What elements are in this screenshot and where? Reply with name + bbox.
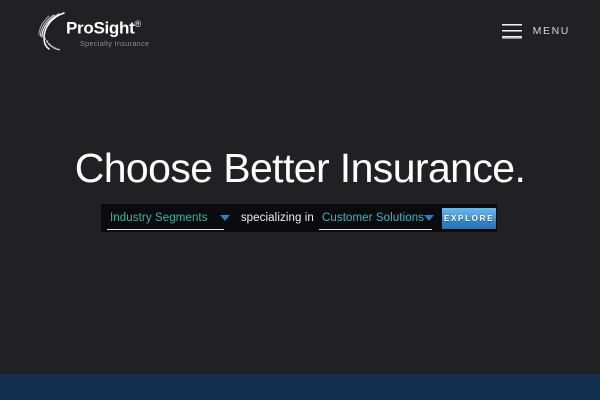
page-title: Choose Better Insurance.: [0, 145, 600, 191]
chevron-down-icon[interactable]: [220, 215, 230, 221]
explore-button[interactable]: EXPLORE: [442, 208, 496, 229]
menu-label: MENU: [533, 25, 570, 37]
trademark-symbol: ®: [134, 19, 140, 29]
chevron-down-icon[interactable]: [424, 215, 434, 221]
brand-logo-text: ProSight® Specialty Insurance: [66, 10, 149, 49]
customer-solutions-value: Customer Solutions: [322, 212, 424, 224]
site-header: ProSight® Specialty Insurance MENU: [0, 0, 600, 62]
industry-segments-underline: [107, 229, 224, 230]
hero-section: Choose Better Insurance.: [0, 145, 600, 191]
hamburger-line-2: [502, 30, 522, 33]
hamburger-menu-icon[interactable]: [502, 24, 522, 39]
hamburger-line-1: [502, 24, 522, 27]
industry-segments-select[interactable]: Industry Segments: [101, 204, 238, 232]
insurance-search-bar: Industry Segments specializing in Custom…: [101, 204, 497, 232]
hamburger-line-3: [502, 36, 522, 39]
customer-solutions-select-row: Customer Solutions: [322, 208, 442, 228]
brand-name: ProSight®: [66, 15, 149, 38]
menu-toggle[interactable]: MENU: [502, 24, 570, 39]
industry-segments-select-row: Industry Segments: [110, 208, 238, 228]
brand-logo[interactable]: ProSight® Specialty Insurance: [38, 10, 149, 52]
brand-tagline: Specialty Insurance: [80, 39, 149, 49]
prosight-arcs-logo-icon: [38, 11, 68, 51]
page-root: ProSight® Specialty Insurance MENU Choos…: [0, 0, 600, 400]
customer-solutions-select[interactable]: Customer Solutions: [317, 204, 442, 232]
footer-band: [0, 374, 600, 400]
customer-solutions-underline: [319, 229, 432, 230]
explore-button-label: EXPLORE: [444, 214, 494, 223]
connector-label: specializing in: [238, 212, 317, 224]
industry-segments-value: Industry Segments: [110, 212, 208, 224]
